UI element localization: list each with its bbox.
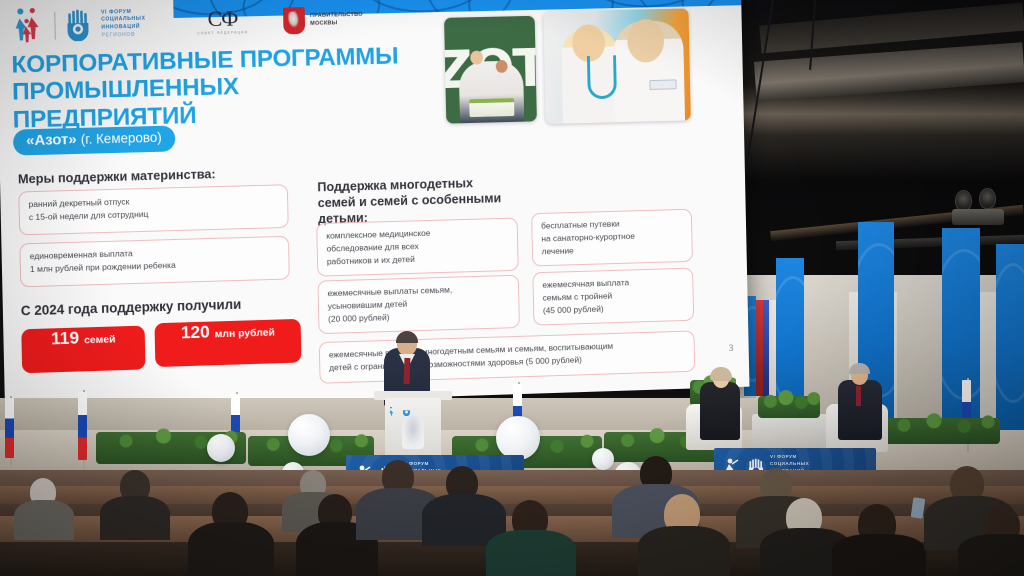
stage-spotlight-icon: [955, 190, 972, 211]
stat-badge-money: 120 млн рублей: [154, 319, 301, 367]
slide-page-number: 3: [729, 343, 734, 353]
stage-banner-line-2: СОЦИАЛЬНЫХ: [770, 461, 809, 468]
forum-line-3: ИННОВАЦИЙ: [101, 24, 145, 33]
decorative-sphere: [288, 414, 330, 456]
stethoscope-icon: [587, 55, 617, 99]
right-box-4: ежемесячная выплата семьям с тройней (45…: [532, 268, 694, 326]
hand-logo-icon: [65, 9, 92, 42]
moscow-logo-text: ПРАВИТЕЛЬСТВО МОСКВЫ: [310, 10, 363, 28]
projection-screen: VI ФОРУМ СОЦИАЛЬНЫХ ИННОВАЦИЙ РЕГИОНОВ С…: [0, 0, 749, 411]
venue-blue-panel: [996, 244, 1024, 435]
decorative-sphere: [592, 448, 614, 470]
slide-title: КОРПОРАТИВНЫЕ ПРОГРАММЫ ПРОМЫШЛЕННЫХ ПРЕ…: [11, 42, 428, 134]
doctor-child-photo: [543, 8, 691, 124]
stat-badge-families-unit: семей: [84, 333, 116, 346]
audience-shoulders: [638, 526, 730, 576]
right-box-3: ежемесячные выплаты семьям, усыновившим …: [317, 275, 520, 334]
stage-coffee-table: [752, 414, 832, 448]
audience-shoulders: [188, 522, 274, 576]
russian-flag: [78, 392, 87, 460]
azot-family-photo: ZOT: [444, 16, 537, 124]
federation-council-logo: СФ СОВЕТ ФЕДЕРАЦИИ: [197, 8, 249, 36]
stage-planter: [880, 418, 1000, 444]
russian-flag: [5, 398, 14, 458]
stage-blue-strip-2: [763, 300, 769, 396]
forum-line-4: РЕГИОНОВ: [101, 31, 145, 40]
conference-stage-scene: VI ФОРУМ СОЦИАЛЬНЫХ ИННОВАЦИЙ РЕГИОНОВ С…: [0, 0, 1024, 576]
stat-badge-families: 119 семей: [21, 326, 145, 374]
company-city: (г. Кемерово): [81, 130, 162, 147]
decorative-sphere: [496, 416, 540, 460]
doctor-photo-badge: [649, 79, 676, 89]
table-plant: [758, 396, 820, 418]
guest-man-tie: [856, 386, 861, 406]
right-box-2: бесплатные путевки на санаторно-курортно…: [531, 209, 693, 267]
stat-badge-families-number: 119: [51, 328, 80, 350]
left-stat-heading: С 2024 года поддержку получили: [21, 297, 242, 319]
audience-shoulders: [486, 530, 576, 576]
stage-banner-line-1: VI ФОРУМ: [770, 454, 809, 461]
podium-logo-people-icon: [389, 403, 398, 412]
company-name: «Азот»: [26, 131, 77, 149]
azot-photo-certificate: [469, 98, 514, 117]
moscow-crest-icon: [283, 7, 305, 34]
audience-shoulders: [100, 496, 170, 540]
stat-badge-money-unit: млн рублей: [215, 327, 275, 341]
audience-shoulders: [832, 534, 926, 576]
spotlight-bracket: [952, 209, 1004, 225]
right-box-1: комплексное медицинское обследование для…: [316, 218, 519, 277]
slide-title-line-2: ПРОМЫШЛЕННЫХ ПРЕДПРИЯТИЙ: [12, 69, 428, 134]
stage-spotlight-icon: [979, 188, 996, 209]
moscow-line-2: МОСКВЫ: [310, 19, 363, 29]
left-box-1: ранний декретный отпуск с 15-ой недели д…: [18, 184, 288, 235]
audience-shoulders: [14, 500, 74, 540]
podium-logo-hand-icon: [402, 403, 411, 412]
audience-shoulders: [958, 534, 1024, 576]
podium-emblem-icon: [402, 415, 424, 449]
stat-badge-money-number: 120: [181, 322, 210, 344]
forum-logo-text: VI ФОРУМ СОЦИАЛЬНЫХ ИННОВАЦИЙ РЕГИОНОВ: [101, 9, 146, 40]
decorative-sphere: [207, 434, 235, 462]
logo-divider: [54, 12, 56, 40]
moscow-government-logo: ПРАВИТЕЛЬСТВО МОСКВЫ: [283, 5, 363, 34]
slide-logo-row: VI ФОРУМ СОЦИАЛЬНЫХ ИННОВАЦИЙ РЕГИОНОВ С…: [10, 0, 363, 50]
guest-woman-body: [700, 382, 740, 440]
people-logo-icon: [10, 8, 45, 45]
speaker-tie: [404, 358, 411, 384]
right-wide-box: ежемесячные выплаты многодетным семьям и…: [319, 330, 695, 383]
sf-subtitle: СОВЕТ ФЕДЕРАЦИИ: [197, 31, 248, 36]
guest-woman-hair: [710, 367, 732, 381]
sf-monogram: СФ: [197, 8, 248, 30]
company-chip: «Азот» (г. Кемерово): [13, 126, 176, 156]
left-box-2: единовременная выплата 1 млн рублей при …: [19, 236, 289, 288]
venue-blue-panel: [942, 228, 980, 435]
stage-red-strip: [756, 300, 763, 396]
left-column-heading: Меры поддержки материнства:: [18, 166, 216, 187]
